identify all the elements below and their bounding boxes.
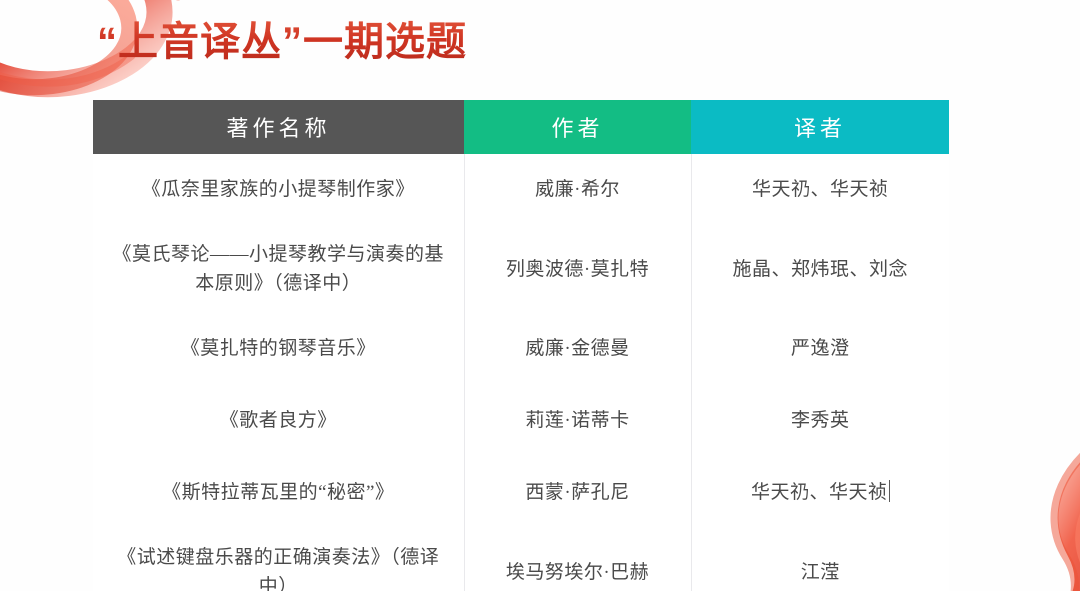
cell-author: 西蒙·萨孔尼 bbox=[464, 457, 691, 529]
cell-author: 威廉·希尔 bbox=[464, 154, 691, 226]
page-title: “上音译丛”一期选题 bbox=[97, 17, 467, 67]
column-header-translator: 译者 bbox=[691, 100, 949, 154]
cell-author: 埃马努埃尔·巴赫 bbox=[464, 529, 691, 591]
cell-translator: 华天礽、华天祯 bbox=[691, 154, 949, 226]
cell-author: 威廉·金德曼 bbox=[464, 313, 691, 385]
table-row: 《试述键盘乐器的正确演奏法》（德译中） 埃马努埃尔·巴赫 江滢 bbox=[93, 529, 949, 591]
cell-work: 《斯特拉蒂瓦里的“秘密”》 bbox=[93, 457, 464, 529]
cell-translator: 严逸澄 bbox=[691, 313, 949, 385]
table-row: 《瓜奈里家族的小提琴制作家》 威廉·希尔 华天礽、华天祯 bbox=[93, 154, 949, 226]
table-header-row: 著作名称 作者 译者 bbox=[93, 100, 949, 154]
cell-work: 《试述键盘乐器的正确演奏法》（德译中） bbox=[93, 529, 464, 591]
table-body: 《瓜奈里家族的小提琴制作家》 威廉·希尔 华天礽、华天祯 《莫氏琴论——小提琴教… bbox=[93, 154, 949, 591]
table-row: 《莫扎特的钢琴音乐》 威廉·金德曼 严逸澄 bbox=[93, 313, 949, 385]
column-header-author: 作者 bbox=[464, 100, 691, 154]
cell-work: 《莫氏琴论——小提琴教学与演奏的基本原则》（德译中） bbox=[93, 226, 464, 313]
cell-translator: 江滢 bbox=[691, 529, 949, 591]
cell-translator: 施晶、郑炜珉、刘念 bbox=[691, 226, 949, 313]
cell-author: 莉莲·诺蒂卡 bbox=[464, 385, 691, 457]
cell-translator-text: 华天礽、华天祯 bbox=[751, 482, 888, 503]
red-ribbon-swirl-icon bbox=[930, 431, 1080, 591]
cell-work: 《瓜奈里家族的小提琴制作家》 bbox=[93, 154, 464, 226]
table-header: 著作名称 作者 译者 bbox=[93, 100, 949, 154]
cell-translator: 李秀英 bbox=[691, 385, 949, 457]
cell-work: 《歌者良方》 bbox=[93, 385, 464, 457]
ribbon-decoration-bottom-right bbox=[930, 431, 1080, 591]
selection-table: 著作名称 作者 译者 《瓜奈里家族的小提琴制作家》 威廉·希尔 华天礽、华天祯 … bbox=[93, 100, 949, 591]
column-header-work: 著作名称 bbox=[93, 100, 464, 154]
cell-translator-editing[interactable]: 华天礽、华天祯 bbox=[691, 457, 949, 529]
table-row: 《斯特拉蒂瓦里的“秘密”》 西蒙·萨孔尼 华天礽、华天祯 bbox=[93, 457, 949, 529]
cell-author: 列奥波德·莫扎特 bbox=[464, 226, 691, 313]
cell-work: 《莫扎特的钢琴音乐》 bbox=[93, 313, 464, 385]
slide-canvas: “上音译丛”一期选题 著作名称 作者 译者 《瓜奈里家族的小提琴制作家》 威廉·… bbox=[0, 0, 1080, 591]
table-row: 《莫氏琴论——小提琴教学与演奏的基本原则》（德译中） 列奥波德·莫扎特 施晶、郑… bbox=[93, 226, 949, 313]
table-row: 《歌者良方》 莉莲·诺蒂卡 李秀英 bbox=[93, 385, 949, 457]
text-cursor-caret bbox=[889, 480, 890, 502]
